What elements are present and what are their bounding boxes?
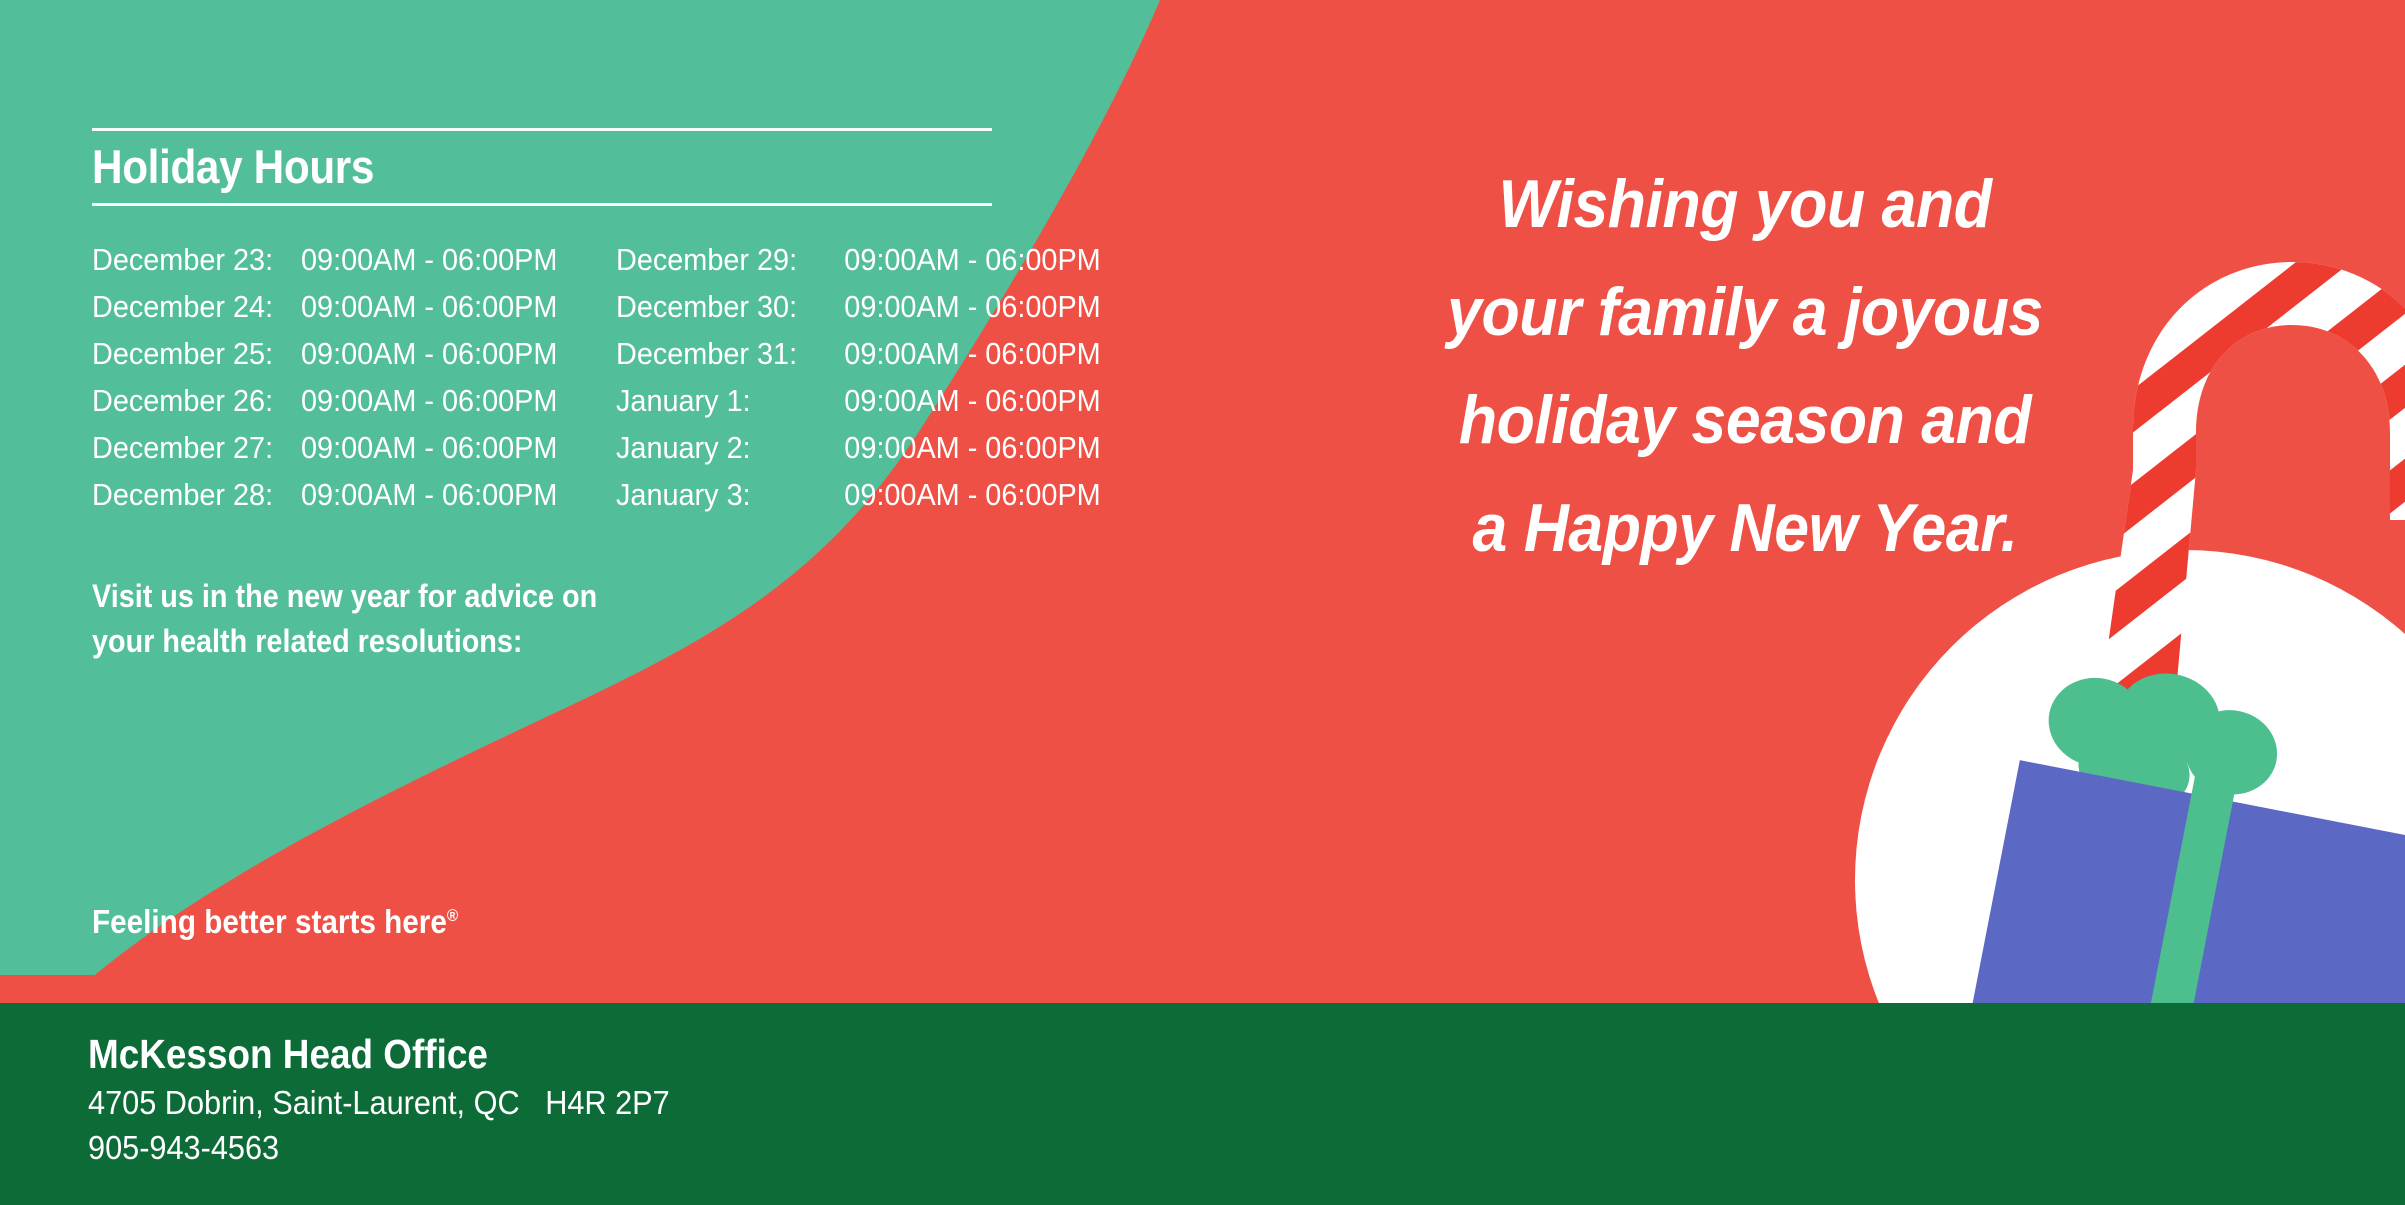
hours-day: December 27: xyxy=(92,424,273,471)
hours-title: Holiday Hours xyxy=(92,131,1028,203)
hours-time: 09:00AM - 06:00PM xyxy=(844,471,1100,518)
hours-day: December 23: xyxy=(92,236,273,283)
visit-note: Visit us in the new year for advice on y… xyxy=(92,574,597,664)
hours-day: December 30: xyxy=(616,283,797,330)
hours-time: 09:00AM - 06:00PM xyxy=(301,283,557,330)
hours-grid: December 23: 09:00AM - 06:00PM December … xyxy=(92,236,1132,518)
hours-day: January 1: xyxy=(616,377,797,424)
footer: McKesson Head Office 4705 Dobrin, Saint-… xyxy=(0,1003,2405,1205)
holiday-card: Holiday Hours December 23: 09:00AM - 06:… xyxy=(0,0,2405,1205)
brand-tagline: Feeling better starts here® xyxy=(92,903,458,941)
tagline-text: Feeling better starts here xyxy=(92,903,447,940)
hours-time: 09:00AM - 06:00PM xyxy=(301,377,557,424)
office-phone: 905-943-4563 xyxy=(88,1125,670,1170)
hours-day: December 26: xyxy=(92,377,273,424)
holiday-hours-panel: Holiday Hours December 23: 09:00AM - 06:… xyxy=(92,128,1132,518)
footer-address-block: McKesson Head Office 4705 Dobrin, Saint-… xyxy=(88,1028,714,1170)
hours-time: 09:00AM - 06:00PM xyxy=(301,330,557,377)
hours-day: January 2: xyxy=(616,424,797,471)
registered-mark-icon: ® xyxy=(447,906,458,925)
hours-time: 09:00AM - 06:00PM xyxy=(844,330,1100,377)
hours-day: December 31: xyxy=(616,330,797,377)
hours-rule-bottom xyxy=(92,203,992,206)
hours-column-right: December 29: 09:00AM - 06:00PM December … xyxy=(616,236,1100,518)
office-address: 4705 Dobrin, Saint-Laurent, QC H4R 2P7 xyxy=(88,1080,670,1125)
hours-time: 09:00AM - 06:00PM xyxy=(301,471,557,518)
hours-time: 09:00AM - 06:00PM xyxy=(301,424,557,471)
hours-time: 09:00AM - 06:00PM xyxy=(844,424,1100,471)
hours-time: 09:00AM - 06:00PM xyxy=(844,377,1100,424)
hours-column-left: December 23: 09:00AM - 06:00PM December … xyxy=(92,236,576,518)
hours-day: December 24: xyxy=(92,283,273,330)
office-name: McKesson Head Office xyxy=(88,1028,651,1080)
hours-time: 09:00AM - 06:00PM xyxy=(844,236,1100,283)
hours-day: January 3: xyxy=(616,471,797,518)
greeting-message: Wishing you and your family a joyous hol… xyxy=(1363,150,2127,582)
hours-day: December 25: xyxy=(92,330,273,377)
hours-time: 09:00AM - 06:00PM xyxy=(844,283,1100,330)
hours-day: December 29: xyxy=(616,236,797,283)
hours-time: 09:00AM - 06:00PM xyxy=(301,236,557,283)
hours-day: December 28: xyxy=(92,471,273,518)
